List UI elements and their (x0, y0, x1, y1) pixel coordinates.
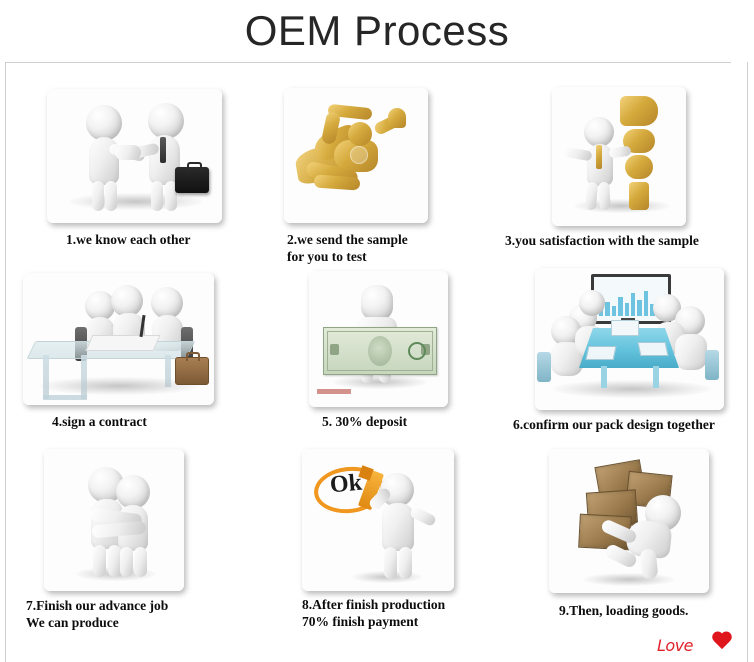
step-caption: 9.Then, loading goods. (559, 602, 749, 619)
figure-leg (92, 181, 104, 211)
figure-leg (585, 182, 598, 211)
love-text: Love (657, 636, 693, 655)
dollar-bill-icon (323, 327, 437, 375)
table-leg (43, 355, 49, 399)
figure-leg (93, 545, 106, 577)
love-watermark: Love (657, 628, 741, 660)
handshake-canvas (47, 89, 222, 223)
figure-leg (120, 547, 133, 577)
process-step-3: 3.you satisfaction with the sample (552, 87, 686, 226)
ok-marker-image: Ok (302, 449, 454, 591)
figure-torso (675, 334, 707, 370)
chest-emblem-icon (350, 146, 368, 164)
figure-leg (134, 547, 147, 577)
table-leg (165, 355, 171, 387)
necktie-icon (160, 137, 166, 163)
content-panel: 1.we know each other (5, 62, 748, 662)
figure-leg (598, 182, 610, 211)
contract-papers (85, 335, 160, 351)
figure-leg (399, 547, 412, 579)
laptop-icon (611, 320, 639, 336)
briefcase-handle (186, 352, 200, 361)
source-watermark (317, 389, 351, 394)
panel-top-gap (731, 62, 747, 64)
figure-torso (382, 503, 414, 551)
deposit-canvas (309, 271, 448, 407)
best-canvas (552, 87, 686, 226)
step-caption: 1.we know each other (66, 231, 266, 248)
figure-head (361, 285, 393, 321)
superhero-head (348, 122, 372, 146)
contract-canvas (23, 273, 214, 405)
step-caption: 5. 30% deposit (322, 413, 482, 430)
briefcase-handle (187, 162, 202, 171)
superhero-leg (314, 174, 361, 190)
step-caption: 7.Finish our advance job We can produce (26, 597, 236, 631)
deposit-image (309, 271, 448, 407)
laptop-icon (638, 342, 669, 356)
process-step-4: 4.sign a contract (23, 273, 214, 405)
hug-canvas (44, 449, 184, 591)
process-step-1: 1.we know each other (47, 89, 222, 223)
ground-shadow (553, 380, 711, 398)
process-step-9: 9.Then, loading goods. (549, 449, 709, 593)
figure-head (579, 290, 605, 316)
necktie-icon (596, 145, 602, 169)
figure-head (116, 475, 150, 509)
contract-signing-image (23, 273, 214, 405)
step-caption: 6.confirm our pack design together (513, 416, 754, 433)
heart-icon (711, 632, 733, 652)
table-leg (601, 366, 607, 388)
figure-head (148, 103, 184, 139)
superhero-image (284, 88, 428, 223)
superhero-canvas (284, 88, 428, 223)
hug-image (44, 449, 184, 591)
chair (537, 352, 551, 382)
loading-canvas (549, 449, 709, 593)
table-leg (81, 355, 87, 399)
figure-head (584, 117, 614, 147)
letter-t (629, 182, 649, 210)
figure-leg (639, 548, 658, 580)
superhero-hand (388, 108, 406, 128)
table-foot (43, 395, 87, 400)
letter-B (620, 96, 658, 126)
best-image (552, 87, 686, 226)
process-step-6: 6.confirm our pack design together (535, 268, 724, 410)
figure-leg (384, 547, 397, 579)
ground-shadow (583, 573, 675, 586)
step-caption: 4.sign a contract (52, 413, 252, 430)
pack-design-meeting-image (535, 268, 724, 410)
handshake-image (47, 89, 222, 223)
figure-head (86, 105, 122, 141)
loading-goods-image (549, 449, 709, 593)
laptop-icon (586, 346, 617, 360)
letter-s (625, 155, 653, 179)
step-caption: 3.you satisfaction with the sample (505, 232, 754, 249)
page-title: OEM Process (0, 2, 754, 60)
ground-shadow (69, 193, 203, 210)
figure-leg (151, 181, 163, 211)
process-step-8: Ok 8.After finish production 70% finish … (302, 449, 454, 591)
briefcase-icon (175, 357, 209, 385)
table-leg (653, 366, 659, 388)
meeting-canvas (535, 268, 724, 410)
figure-leg (105, 181, 117, 211)
process-step-5: 5. 30% deposit (309, 271, 448, 407)
step-caption: 8.After finish production 70% finish pay… (302, 596, 502, 630)
ok-canvas: Ok (302, 449, 454, 591)
clasped-hands (115, 145, 141, 160)
process-step-2: 2.we send the sample for you to test (284, 88, 428, 223)
process-step-7: 7.Finish our advance job We can produce (44, 449, 184, 591)
step-caption: 2.we send the sample for you to test (287, 231, 477, 265)
chair (705, 350, 719, 380)
